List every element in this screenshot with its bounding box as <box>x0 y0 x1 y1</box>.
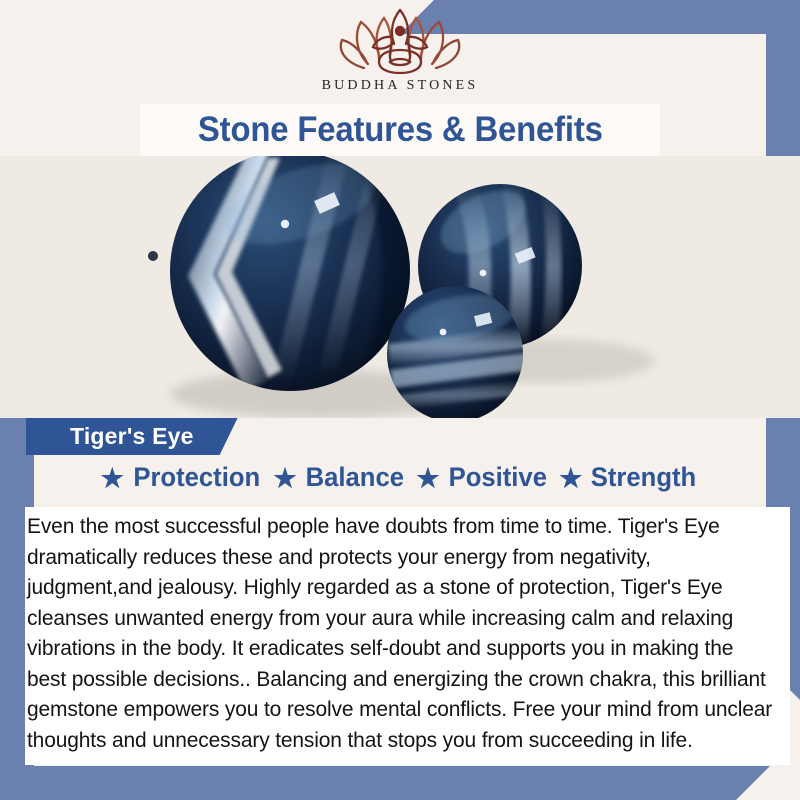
product-photo <box>0 156 800 418</box>
benefit-item-positive: ★ Positive <box>416 462 549 493</box>
brand-logo-block: BUDDHA STONES <box>0 6 800 94</box>
benefit-item-strength: ★ Strength <box>559 462 699 493</box>
benefit-label: Balance <box>305 462 403 493</box>
benefit-item-protection: ★ Protection <box>101 462 264 493</box>
star-icon: ★ <box>273 465 296 491</box>
page-title: Stone Features & Benefits <box>198 110 603 150</box>
description-text: Even the most successful people have dou… <box>27 511 773 755</box>
poster-root: BUDDHA STONES Stone Features & Benefits <box>0 0 800 800</box>
stone-name-label: Tiger's Eye <box>70 423 194 450</box>
benefits-row: ★ Protection ★ Balance ★ Positive ★ Stre… <box>0 462 800 493</box>
stone-name-ribbon: Tiger's Eye <box>26 418 238 455</box>
description-panel: Even the most successful people have dou… <box>25 507 790 765</box>
lotus-meditation-icon <box>334 6 466 76</box>
brand-wordmark: BUDDHA STONES <box>322 78 479 94</box>
benefit-label: Strength <box>591 462 696 493</box>
frame-bar-bottom <box>0 766 770 800</box>
benefit-label: Protection <box>133 462 260 493</box>
star-icon: ★ <box>416 465 439 491</box>
benefit-label: Positive <box>448 462 546 493</box>
star-icon: ★ <box>559 465 582 491</box>
benefit-item-balance: ★ Balance <box>273 462 406 493</box>
star-icon: ★ <box>101 465 124 491</box>
title-band: Stone Features & Benefits <box>140 104 660 156</box>
